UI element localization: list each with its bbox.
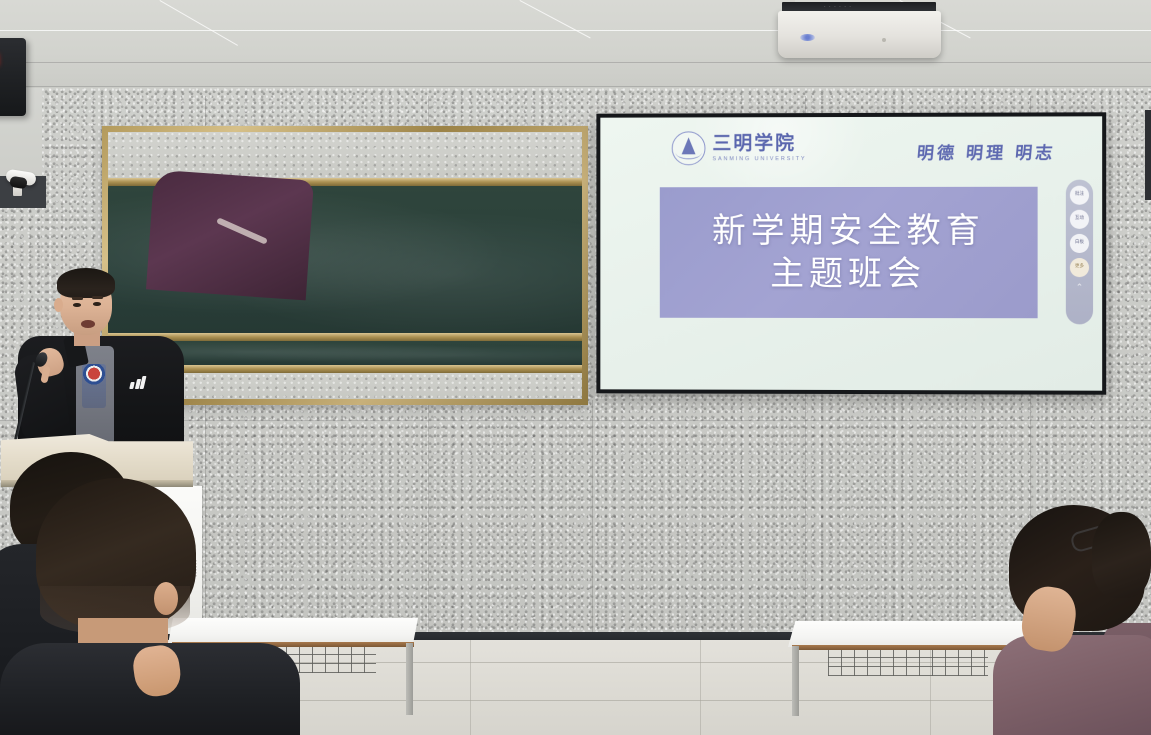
slide-toolbar[interactable]: 批注 互动 白板 更多 ⌃ [1066, 180, 1093, 325]
presenter-shirt-graphic [82, 364, 106, 408]
presenter-mouth [81, 320, 95, 328]
university-name-en: SANMING UNIVERSITY [712, 156, 806, 162]
projector-mount-label: · · · · · · [824, 4, 852, 10]
slide-title-line-1: 新学期安全教育 [712, 211, 985, 251]
student-far-right-edge [1092, 512, 1151, 632]
projection-screen[interactable]: 三明学院 SANMING UNIVERSITY 明德 明理 明志 新学期安全教育… [596, 112, 1106, 394]
student-ear [154, 582, 178, 615]
student-desk-center-leg-2 [406, 643, 413, 715]
slide-title-line-2: 主题班会 [770, 254, 926, 294]
ceiling [0, 0, 1151, 96]
toolbar-button-more[interactable]: 更多 [1070, 258, 1089, 277]
university-name-cn: 三明学院 [712, 134, 806, 153]
toolbar-button-whiteboard[interactable]: 白板 [1070, 234, 1089, 253]
university-motto: 明德 明理 明志 [916, 139, 1057, 164]
led-clock: 8 [0, 38, 26, 116]
presentation-slide[interactable]: 三明学院 SANMING UNIVERSITY 明德 明理 明志 新学期安全教育… [600, 116, 1102, 390]
purple-coat-on-chair [146, 170, 314, 301]
university-crest-icon [672, 131, 706, 165]
student-desk-right-rack [828, 650, 988, 676]
student-foreground-center [8, 478, 308, 735]
student-desk-right-leg [792, 646, 799, 716]
slide-title-band: 新学期安全教育 主题班会 [660, 187, 1038, 318]
classroom-scene: 8 · · · · · · 三 [0, 0, 1151, 735]
projector-lens-icon [800, 34, 815, 41]
toolbar-button-annotate[interactable]: 批注 [1070, 186, 1089, 205]
chevron-up-icon[interactable]: ⌃ [1076, 283, 1084, 292]
security-camera-icon [2, 168, 42, 198]
presenter-ear [54, 298, 63, 312]
toolbar-button-interact[interactable]: 互动 [1070, 210, 1089, 229]
led-clock-digits: 8 [0, 51, 1, 71]
projector-indicator-icon [882, 38, 886, 42]
student-head [1092, 512, 1151, 598]
university-logo: 三明学院 SANMING UNIVERSITY [672, 131, 807, 165]
student-body [993, 635, 1151, 735]
adidas-logo-icon [130, 376, 148, 389]
presenter-hair [57, 268, 115, 298]
wall-right-dark-strip [1145, 110, 1151, 200]
ceiling-projector [778, 11, 941, 58]
